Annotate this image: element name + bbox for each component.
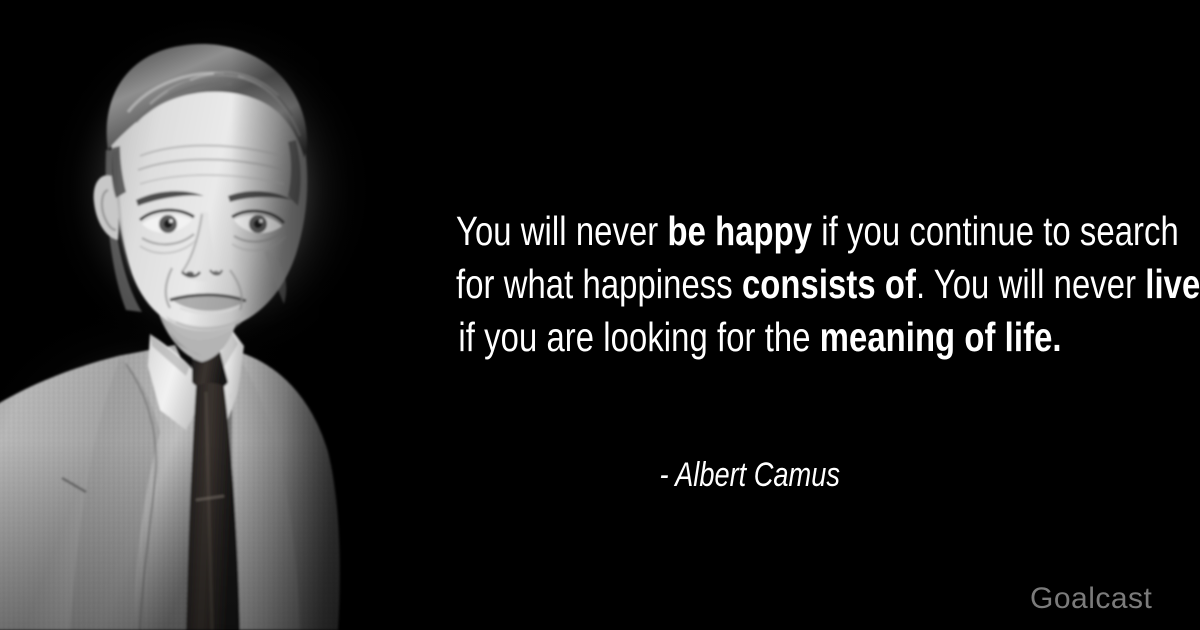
- quote-line-3: if you are looking for the meaning of li…: [456, 311, 1064, 364]
- goalcast-logo[interactable]: Goalcast: [1030, 580, 1192, 618]
- goalcast-logo-text: Goalcast: [1030, 582, 1153, 615]
- quote-segment: . You will never: [916, 261, 1145, 307]
- quote-text: You will never be happy if you continue …: [380, 205, 1140, 364]
- quote-segment-bold: meaning of life.: [820, 314, 1062, 360]
- quote-segment: for what happiness: [456, 261, 742, 307]
- quote-segment: You will never: [456, 208, 667, 254]
- quote-segment: if you are looking for the: [458, 314, 819, 360]
- quote-line-2: for what happiness consists of. You will…: [456, 258, 1064, 311]
- attribution-text: - Albert Camus: [660, 456, 840, 495]
- quote-segment-bold: be happy: [667, 208, 812, 254]
- quote-segment-bold: consists of: [742, 261, 916, 307]
- quote-card: You will never be happy if you continue …: [0, 0, 1200, 630]
- quote-segment-bold: live: [1145, 261, 1200, 307]
- quote-attribution: - Albert Camus: [380, 456, 1120, 495]
- quote-line-1: You will never be happy if you continue …: [456, 205, 1064, 258]
- albert-camus-portrait: [0, 0, 420, 630]
- quote-segment: if you continue to search: [812, 208, 1179, 254]
